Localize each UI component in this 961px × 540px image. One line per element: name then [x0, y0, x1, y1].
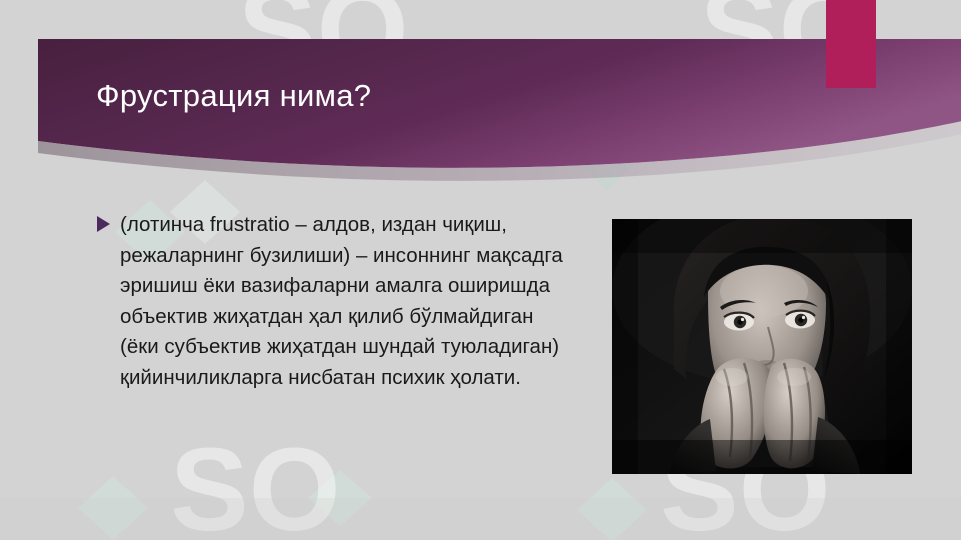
triangle-bullet-icon — [97, 216, 110, 232]
slide-canvas: SO SO SO SO — [0, 0, 961, 540]
accent-bar — [826, 0, 876, 88]
body-paragraph: (лотинча frustratio – алдов, издан чиқиш… — [120, 210, 567, 393]
page-title: Фрустрация нима? — [96, 78, 371, 114]
list-item: (лотинча frustratio – алдов, издан чиқиш… — [97, 210, 567, 393]
svg-text:SO: SO — [170, 424, 341, 540]
portrait-photo-graphic — [612, 219, 912, 474]
content-block: (лотинча frustratio – алдов, издан чиқиш… — [97, 210, 567, 393]
portrait-photo — [612, 219, 912, 474]
